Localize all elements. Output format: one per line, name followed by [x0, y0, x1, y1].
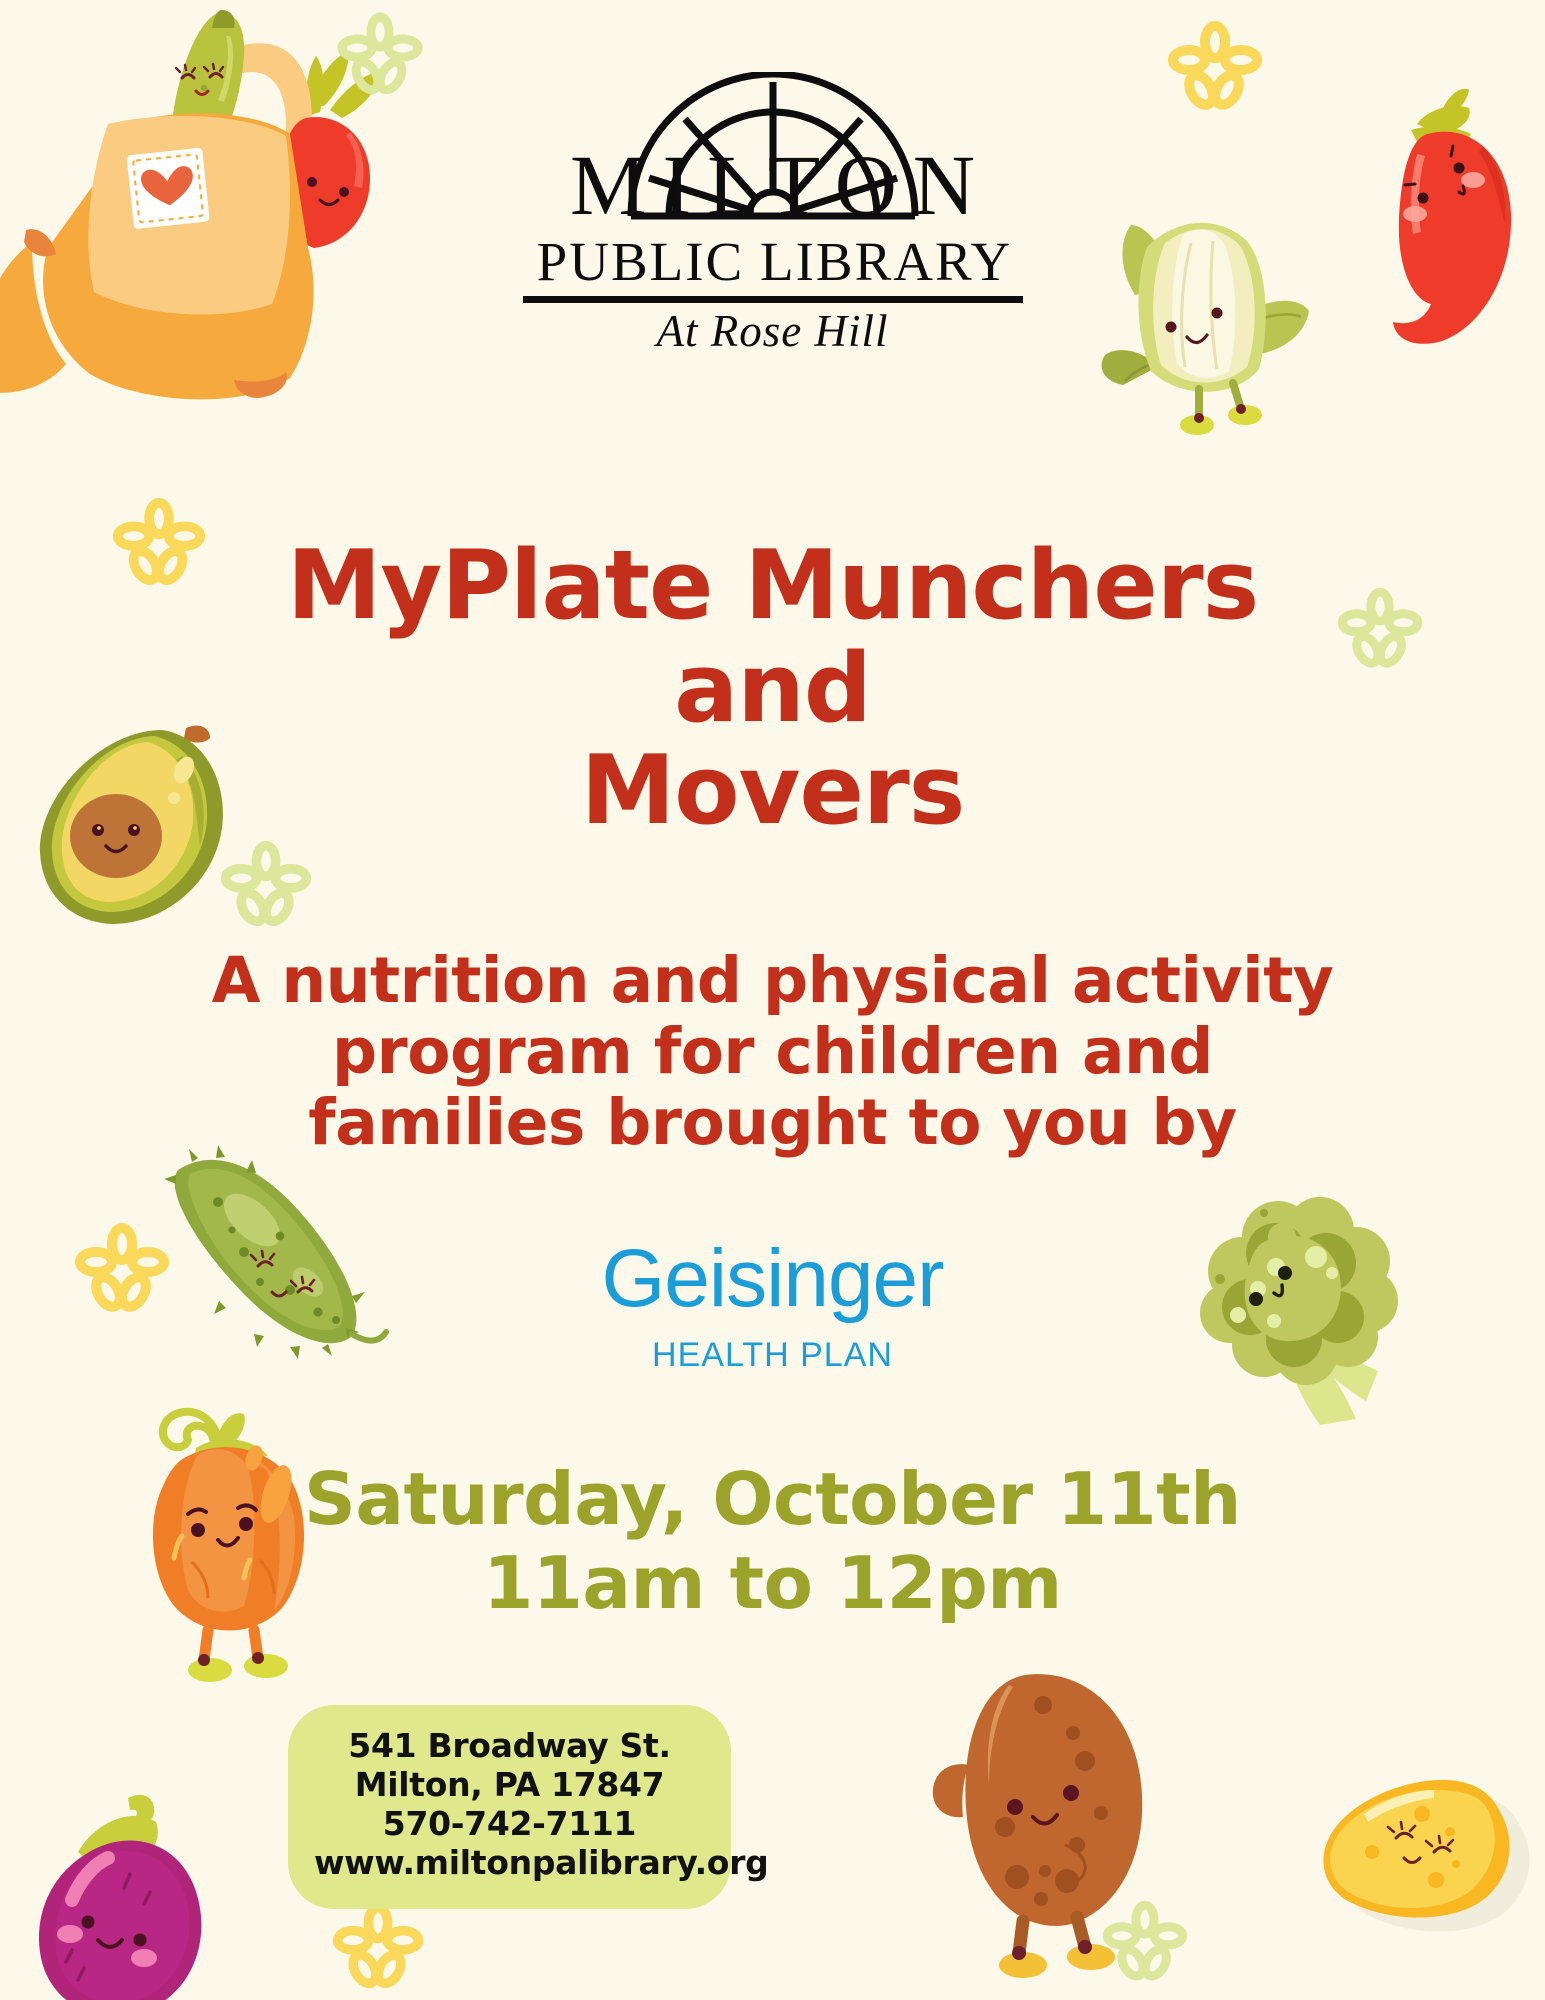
- contact-info-card: 541 Broadway St. Milton, PA 17847 570-74…: [288, 1705, 731, 1909]
- page-title: MyPlate Munchers and Movers: [0, 535, 1545, 843]
- logo-org-name: MILTON: [453, 142, 1093, 228]
- title-line-1: MyPlate Munchers: [0, 535, 1545, 638]
- address-street: 541 Broadway St.: [314, 1727, 705, 1766]
- napa-cabbage-character-icon: [1095, 185, 1315, 435]
- sponsor-tagline: HEALTH PLAN: [0, 1336, 1545, 1375]
- title-line-3: Movers: [0, 740, 1545, 843]
- flower-doodle-yellow-icon: [330, 1900, 426, 1996]
- description-line-3: families brought to you by: [0, 1087, 1545, 1158]
- logo-org-type: PUBLIC LIBRARY: [453, 234, 1093, 289]
- sponsor-name: Geisinger: [0, 1238, 1545, 1320]
- title-line-2: and: [0, 638, 1545, 741]
- chili-pepper-character-icon: [1355, 80, 1525, 380]
- library-logo: MILTON PUBLIC LIBRARY At Rose Hill: [453, 78, 1093, 354]
- flower-doodle-green-icon: [1100, 1898, 1190, 1988]
- flower-doodle-green-icon: [218, 838, 314, 934]
- flower-doodle-green-icon: [335, 10, 425, 100]
- lemon-character-icon: [1310, 1740, 1530, 1940]
- program-description: A nutrition and physical activity progra…: [0, 945, 1545, 1159]
- description-line-2: program for children and: [0, 1016, 1545, 1087]
- event-date: Saturday, October 11th: [0, 1458, 1545, 1542]
- grocery-bag-with-heart-label-icon: [0, 0, 390, 412]
- flyer-poster: MILTON PUBLIC LIBRARY At Rose Hill MyPla…: [0, 0, 1545, 2000]
- logo-divider: [523, 296, 1023, 303]
- event-time: 11am to 12pm: [0, 1542, 1545, 1626]
- sponsor-logo: Geisinger HEALTH PLAN: [0, 1238, 1545, 1375]
- contact-phone: 570-742-7111: [314, 1805, 705, 1844]
- eggplant-character-icon: [32, 1782, 242, 2000]
- logo-branch-name: At Rose Hill: [453, 309, 1093, 354]
- address-city-state-zip: Milton, PA 17847: [314, 1766, 705, 1805]
- potato-character-icon: [905, 1665, 1185, 2000]
- event-datetime: Saturday, October 11th 11am to 12pm: [0, 1458, 1545, 1625]
- flower-doodle-yellow-icon: [1165, 18, 1265, 118]
- contact-website[interactable]: www.miltonpalibrary.org: [314, 1844, 705, 1883]
- description-line-1: A nutrition and physical activity: [0, 945, 1545, 1016]
